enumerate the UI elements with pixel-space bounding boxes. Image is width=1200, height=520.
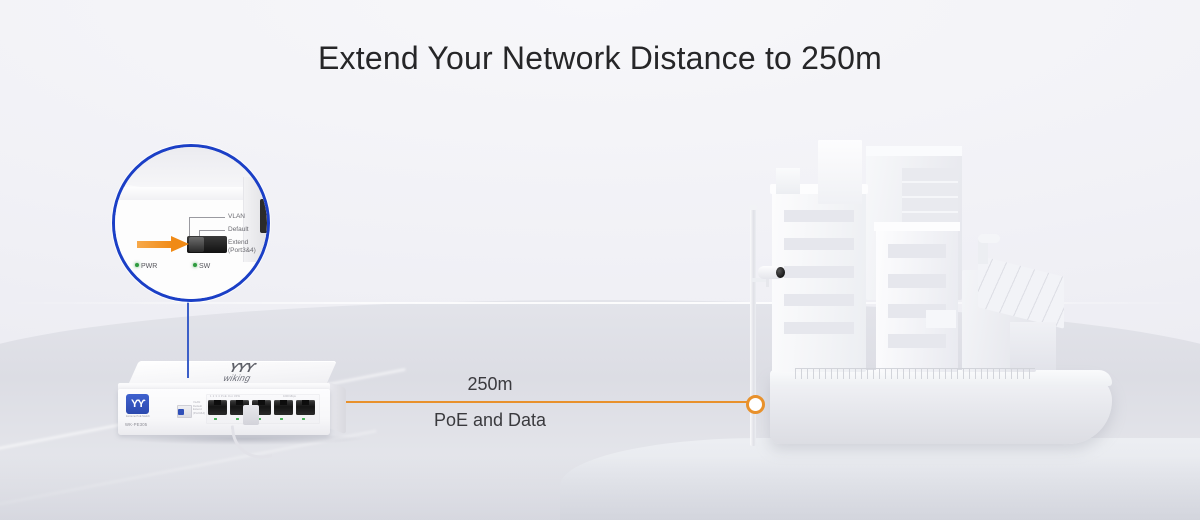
- led-dot-icon: [135, 263, 139, 267]
- page-title: Extend Your Network Distance to 250m: [0, 40, 1200, 77]
- callout-label-default: Default: [228, 226, 249, 235]
- port-bank-label-left: 1 2 3 4 PoE Out 30W: [210, 395, 240, 398]
- port-link-led: [302, 418, 305, 420]
- magnifier-connector-line: [187, 296, 189, 378]
- led-dot-icon: [193, 263, 197, 267]
- callout-label-ports: (Port3&4): [228, 247, 256, 256]
- window-band: [888, 334, 946, 348]
- led-label-sw: SW: [199, 263, 210, 270]
- callout-leader: [189, 217, 225, 218]
- brand-badge-subtitle: Extreme PoE Switch: [121, 415, 155, 418]
- device-right-side: [328, 382, 346, 434]
- brand-name: wiking: [203, 373, 271, 383]
- arrow-head: [171, 236, 189, 252]
- window-band: [784, 322, 854, 334]
- link-distance-label: 250m: [400, 374, 580, 395]
- ground-shading: [0, 455, 1200, 520]
- port-link-led: [280, 418, 283, 420]
- zoom-ethernet-port: [260, 199, 269, 233]
- window-band: [784, 210, 854, 222]
- window-band: [888, 274, 946, 288]
- window-band: [888, 244, 946, 258]
- vlan-toggle-knob[interactable]: [178, 409, 184, 415]
- magnifier-callout: VLAN Default Extend (Port3&4) PWR SW: [112, 144, 270, 302]
- scene-canvas: Extend Your Network Distance to 250m: [0, 0, 1200, 520]
- window-band: [784, 294, 854, 306]
- rooftop-duct-elbow: [978, 234, 1000, 243]
- led-indicator-pwr: PWR: [135, 263, 157, 270]
- link-endpoint-pole: [746, 395, 765, 414]
- port-bank-label-right: 1000 Mbps: [283, 395, 296, 398]
- ethernet-port[interactable]: [274, 400, 293, 415]
- device-model-label: WK-PE305: [125, 422, 147, 427]
- brand-mark-icon: ƳƳƳ: [207, 363, 275, 373]
- window-band: [784, 238, 854, 250]
- magnifier-content: VLAN Default Extend (Port3&4) PWR SW: [115, 147, 267, 299]
- perimeter-fence: [795, 368, 1035, 379]
- ethernet-ports: [208, 400, 315, 415]
- arrow-pointer-icon: [137, 237, 193, 251]
- led-label-pwr: PWR: [141, 263, 157, 270]
- device-top-logo: ƳƳƳ wiking: [202, 363, 276, 385]
- building-mid-tower-cap: [874, 222, 960, 231]
- link-type-label: PoE and Data: [390, 410, 590, 431]
- rooftop-billboard: [818, 140, 862, 204]
- port-link-led: [236, 418, 239, 420]
- vlan-toggle-labels: VLANDefaultExtend(Port3&4): [193, 401, 205, 415]
- building-rear-tower-roof: [866, 146, 962, 156]
- poe-switch-device: ƳƳƳ wiking ƳƳ Extreme PoE Switch WK-PE30…: [115, 361, 340, 439]
- wall-sign: [926, 310, 956, 328]
- ethernet-port[interactable]: [208, 400, 227, 415]
- callout-leader: [189, 217, 190, 237]
- camera-lens-icon: [776, 267, 785, 278]
- port-link-led: [214, 418, 217, 420]
- callout-leader: [199, 230, 225, 231]
- arrow-shaft: [137, 241, 173, 248]
- rooftop-box: [776, 168, 800, 194]
- camera-stem: [766, 278, 769, 287]
- pole-cap: [749, 205, 757, 210]
- window-band: [784, 266, 854, 278]
- callout-label-vlan: VLAN: [228, 213, 245, 222]
- storefront: [1010, 322, 1056, 370]
- ethernet-port[interactable]: [296, 400, 315, 415]
- brand-badge: ƳƳ: [126, 394, 149, 414]
- led-indicator-sw: SW: [193, 263, 210, 270]
